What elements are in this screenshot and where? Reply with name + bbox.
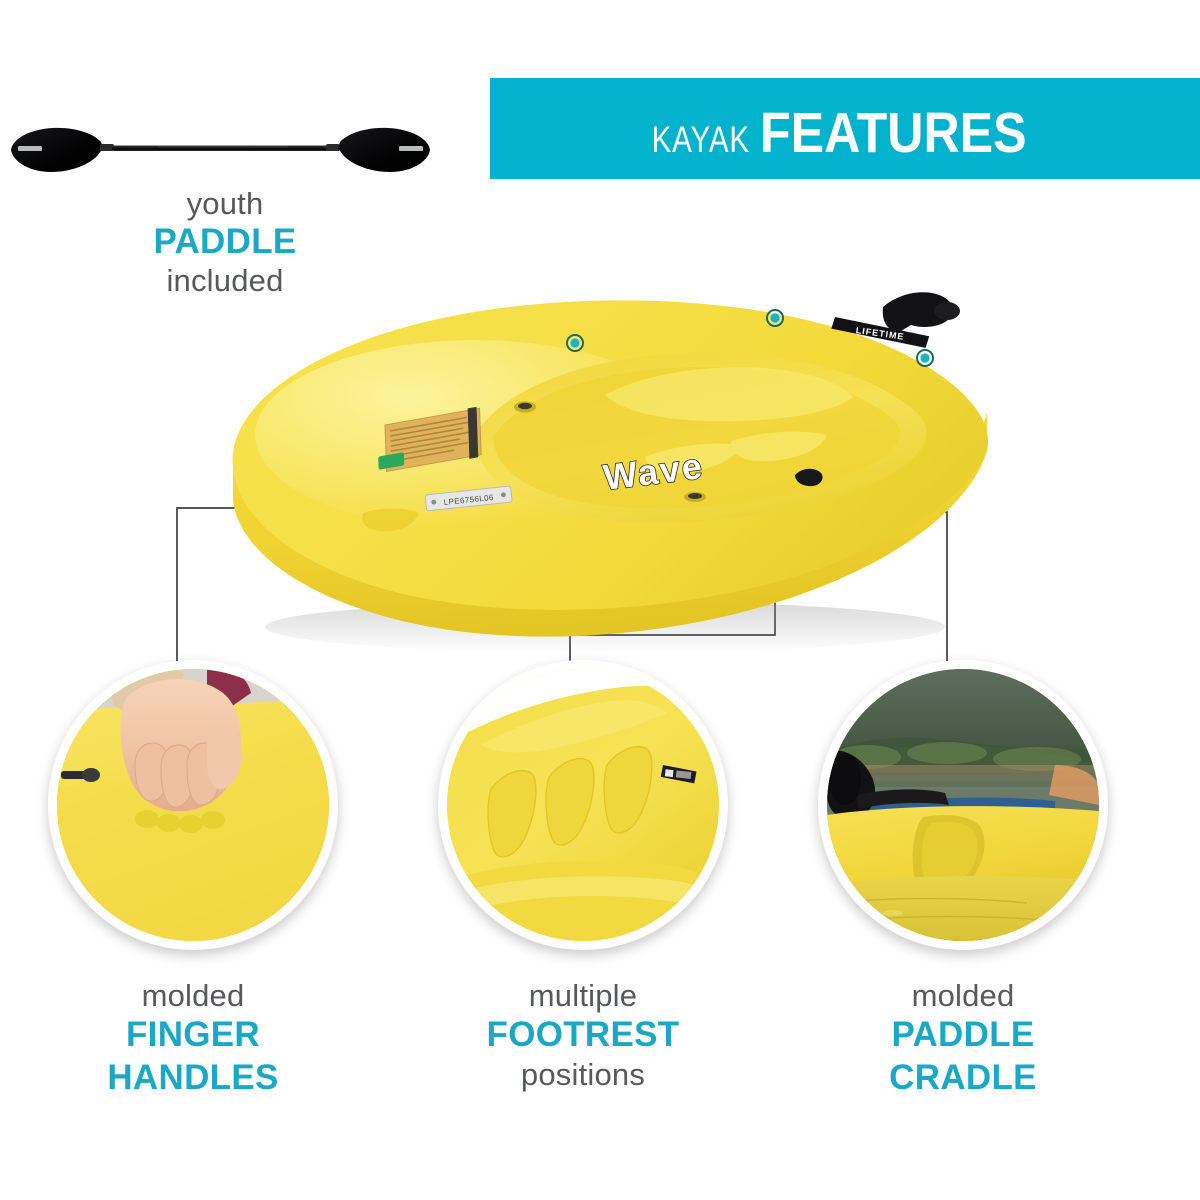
bow-carry-handle-shape	[883, 292, 960, 331]
infographic-canvas: KAYAK FEATURES	[0, 0, 1200, 1200]
feature-photo-clip	[447, 669, 719, 941]
caption-line1: multiple	[403, 978, 763, 1014]
kayak-product-image: LIFETIME Wave	[175, 245, 1015, 655]
caption-finger-handles: molded FINGER HANDLES	[13, 978, 373, 1099]
feature-photo-clip	[57, 669, 329, 941]
banner-title-bold: FEATURES	[760, 100, 1027, 166]
caption-line3: positions	[403, 1057, 763, 1093]
caption-line1: molded	[783, 978, 1143, 1014]
caption-line3: HANDLES	[13, 1057, 373, 1100]
caption-line2: PADDLE	[783, 1014, 1143, 1057]
kayak-paddle-icon	[8, 115, 433, 185]
caption-paddle-cradle: molded PADDLE CRADLE	[783, 978, 1143, 1099]
caption-line3: CRADLE	[783, 1057, 1143, 1100]
feature-photo-clip	[827, 669, 1099, 941]
feature-photo-footrest	[438, 660, 728, 950]
caption-line2: FOOTREST	[403, 1014, 763, 1057]
kayak-features-banner: KAYAK FEATURES	[490, 78, 1200, 179]
caption-line1: molded	[13, 978, 373, 1014]
feature-photo-paddle-cradle	[818, 660, 1108, 950]
caption-footrest: multiple FOOTREST positions	[403, 978, 763, 1093]
banner-title: KAYAK FEATURES	[627, 100, 1063, 166]
caption-line2: FINGER	[13, 1014, 373, 1057]
feature-photo-finger-handles	[48, 660, 338, 950]
paddle-caption-line1: youth	[60, 186, 390, 222]
banner-title-light: KAYAK	[652, 119, 750, 161]
